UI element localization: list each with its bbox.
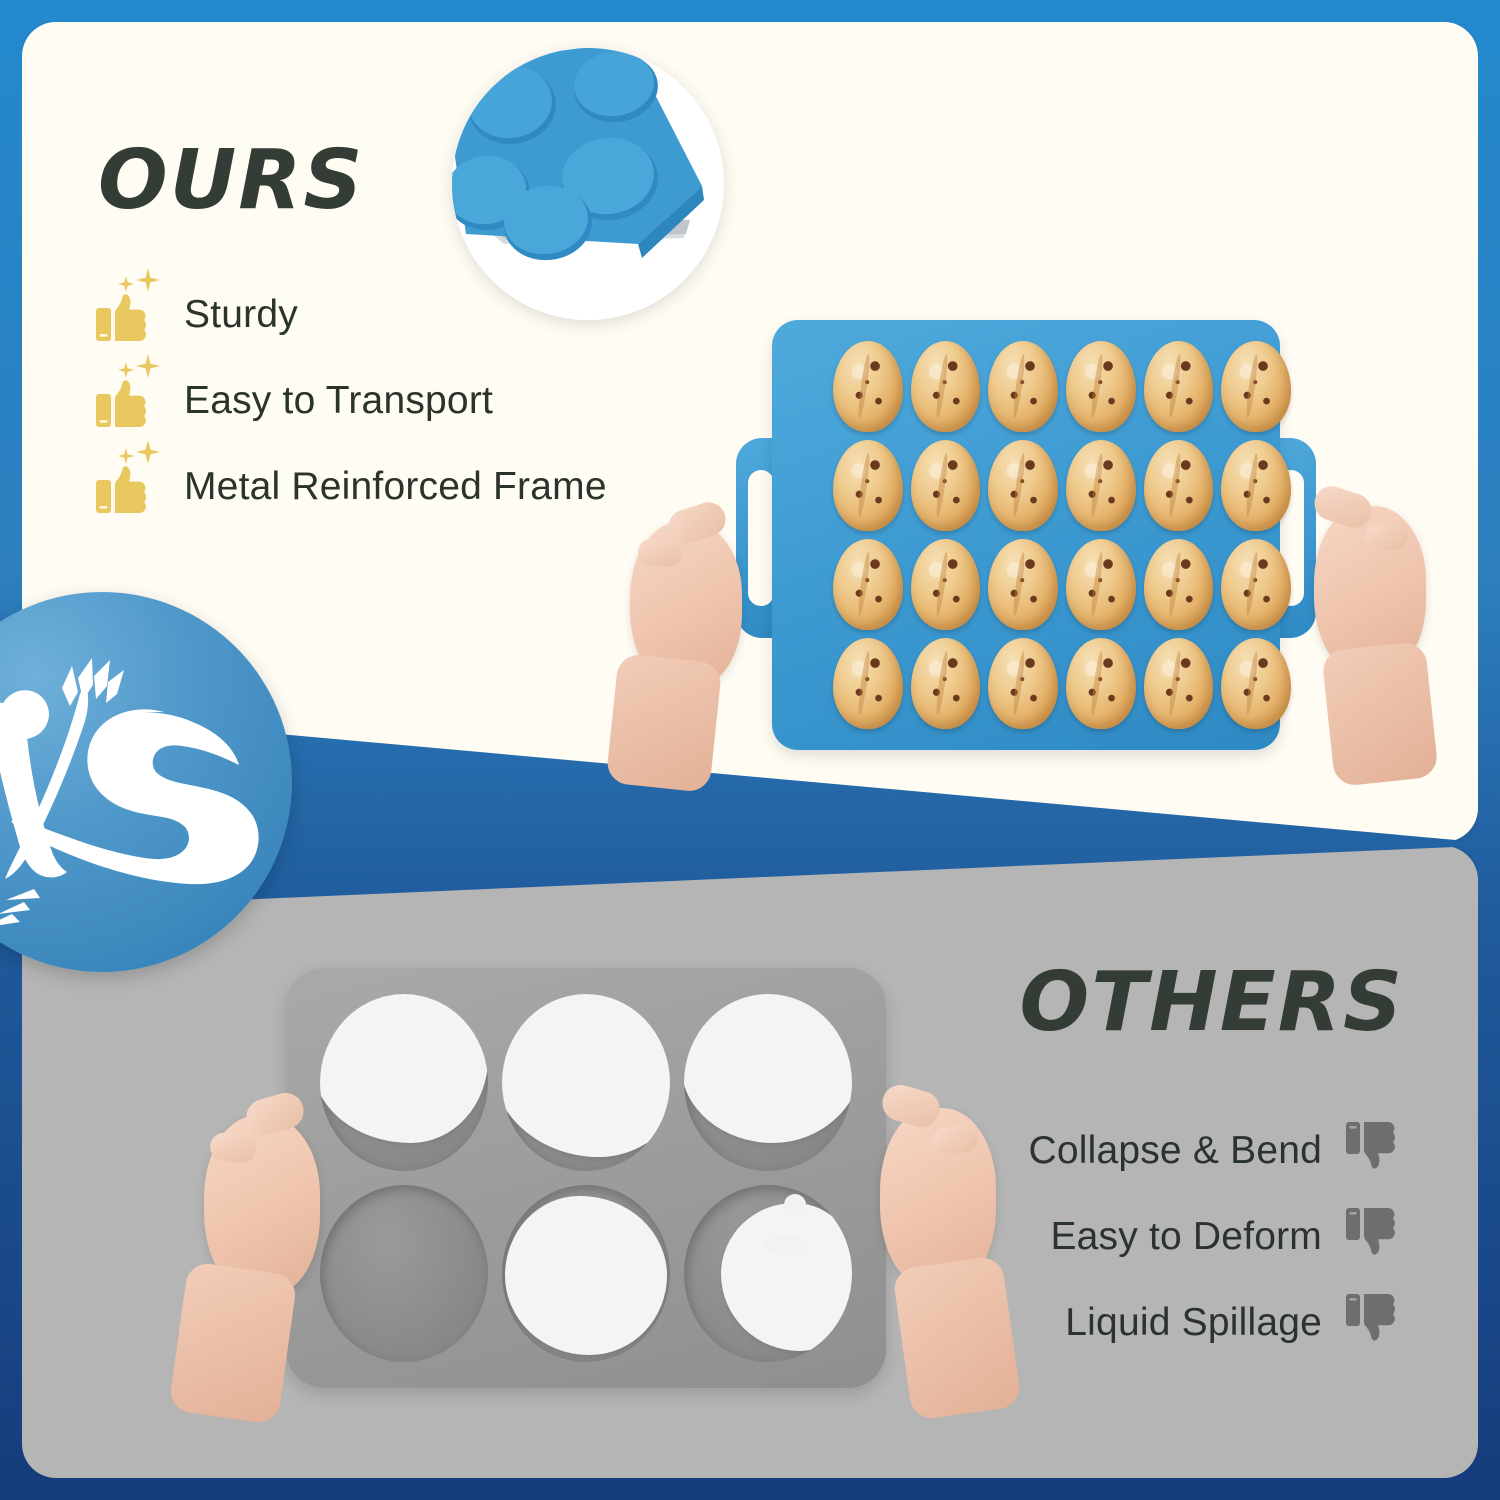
- vs-badge: [0, 592, 292, 972]
- thumbs-down-icon: [1346, 1292, 1404, 1354]
- muffin: [1066, 341, 1136, 432]
- muffin: [911, 440, 981, 531]
- cavity: [320, 994, 488, 1171]
- cavity-grid: [320, 994, 852, 1362]
- tray-body: [772, 320, 1280, 750]
- muffin: [1221, 341, 1291, 432]
- gray-silicone-mold: [286, 968, 886, 1388]
- sparkle-large-icon: [136, 354, 160, 378]
- pros-list: Sturdy Easy to Transport: [96, 272, 607, 530]
- pro-label: Sturdy: [184, 293, 298, 337]
- handle-hole-left: [748, 470, 774, 606]
- thumbs-down-icon: [1346, 1120, 1404, 1182]
- sparkle-large-icon: [136, 268, 160, 292]
- list-item: Easy to Transport: [96, 358, 607, 444]
- muffin: [1144, 341, 1214, 432]
- cons-list: Collapse & Bend Easy to Deform Liquid Sp…: [1028, 1108, 1404, 1366]
- con-label: Easy to Deform: [1050, 1215, 1322, 1259]
- pro-label: Easy to Transport: [184, 379, 493, 423]
- batter-drip: [784, 1194, 806, 1216]
- thumbs-down-icon: [1346, 1206, 1404, 1268]
- cavity: [684, 1185, 852, 1362]
- sparkle-small-icon: [118, 276, 134, 292]
- spilled-batter: [320, 994, 488, 1143]
- sparkle-large-icon: [136, 440, 160, 464]
- spilled-batter: [684, 994, 852, 1143]
- muffin: [911, 539, 981, 630]
- muffin: [833, 638, 903, 729]
- sparkle-small-icon: [118, 448, 134, 464]
- pro-label: Metal Reinforced Frame: [184, 465, 607, 509]
- cavity: [684, 994, 852, 1171]
- others-heading: OTHERS: [1020, 962, 1404, 1044]
- muffin: [1144, 638, 1214, 729]
- muffin: [1066, 638, 1136, 729]
- con-label: Liquid Spillage: [1065, 1301, 1322, 1345]
- sparkle-small-icon: [118, 362, 134, 378]
- ours-heading: OURS: [98, 140, 365, 222]
- batter-drip: [764, 1236, 808, 1254]
- blue-silicone-muffin-tray: [736, 320, 1316, 750]
- list-item: Easy to Deform: [1028, 1194, 1404, 1280]
- list-item: Collapse & Bend: [1028, 1108, 1404, 1194]
- con-label: Collapse & Bend: [1028, 1129, 1322, 1173]
- muffin: [1144, 539, 1214, 630]
- cavity: [320, 1185, 488, 1362]
- muffin: [988, 638, 1058, 729]
- thumbs-up-icon: [96, 454, 158, 520]
- muffin: [988, 440, 1058, 531]
- list-item: Liquid Spillage: [1028, 1280, 1404, 1366]
- muffin: [911, 638, 981, 729]
- spilled-batter: [502, 994, 670, 1157]
- product-closeup-inset: [452, 48, 724, 320]
- muffin-grid: [830, 338, 1294, 732]
- thumbs-up-icon: [96, 368, 158, 434]
- muffin: [988, 341, 1058, 432]
- list-item: Metal Reinforced Frame: [96, 444, 607, 530]
- cavity: [502, 994, 670, 1171]
- spilled-batter: [505, 1196, 666, 1355]
- muffin: [988, 539, 1058, 630]
- thumbs-up-icon: [96, 282, 158, 348]
- muffin: [1221, 539, 1291, 630]
- muffin: [833, 440, 903, 531]
- muffin: [1066, 539, 1136, 630]
- muffin: [833, 341, 903, 432]
- muffin: [1144, 440, 1214, 531]
- muffin: [1066, 440, 1136, 531]
- spilled-batter: [721, 1203, 852, 1352]
- cavity: [502, 1185, 670, 1362]
- muffin: [911, 341, 981, 432]
- muffin: [1221, 440, 1291, 531]
- muffin: [1221, 638, 1291, 729]
- muffin: [833, 539, 903, 630]
